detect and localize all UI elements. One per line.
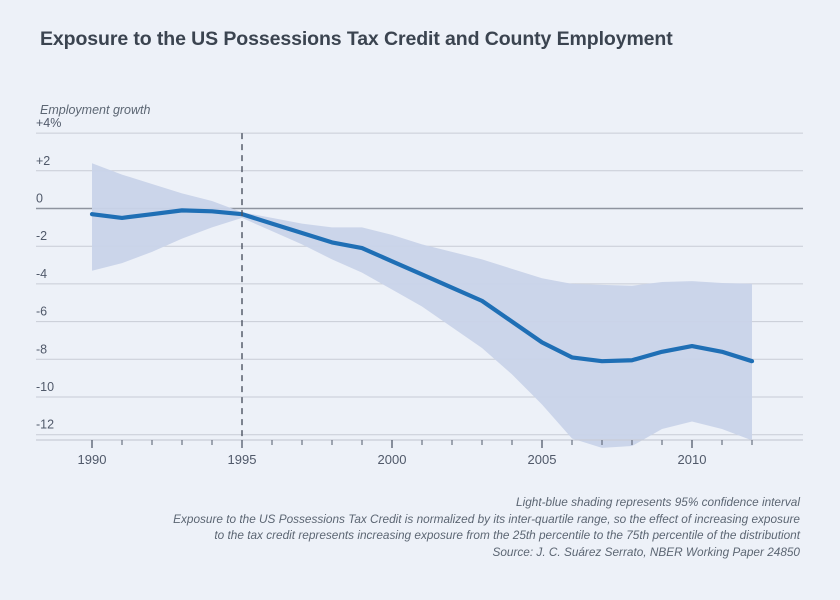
- x-tick-label: 2000: [378, 452, 407, 467]
- y-tick-label: 0: [36, 192, 43, 206]
- x-tick-label: 1995: [228, 452, 257, 467]
- confidence-interval-band: [92, 163, 752, 448]
- footnote-normalization-line2: to the tax credit represents increasing …: [40, 527, 800, 544]
- y-tick-label: +2: [36, 154, 50, 168]
- y-tick-label: -10: [36, 380, 54, 394]
- y-tick-label: +4%: [36, 116, 61, 130]
- y-tick-label: -8: [36, 342, 47, 356]
- y-tick-label: -4: [36, 267, 47, 281]
- footnote-block: Light-blue shading represents 95% confid…: [40, 494, 800, 560]
- x-tick-label: 1990: [78, 452, 107, 467]
- y-tick-label: -6: [36, 305, 47, 319]
- y-tick-label: -12: [36, 418, 54, 432]
- x-tick-label: 2010: [678, 452, 707, 467]
- footnote-normalization-line1: Exposure to the US Possessions Tax Credi…: [40, 511, 800, 528]
- footnote-ci: Light-blue shading represents 95% confid…: [40, 494, 800, 511]
- x-tick-label: 2005: [528, 452, 557, 467]
- footnote-source: Source: J. C. Suárez Serrato, NBER Worki…: [40, 544, 800, 561]
- y-tick-label: -2: [36, 229, 47, 243]
- chart-plot: +4%+20-2-4-6-8-10-1219901995200020052010: [0, 0, 840, 480]
